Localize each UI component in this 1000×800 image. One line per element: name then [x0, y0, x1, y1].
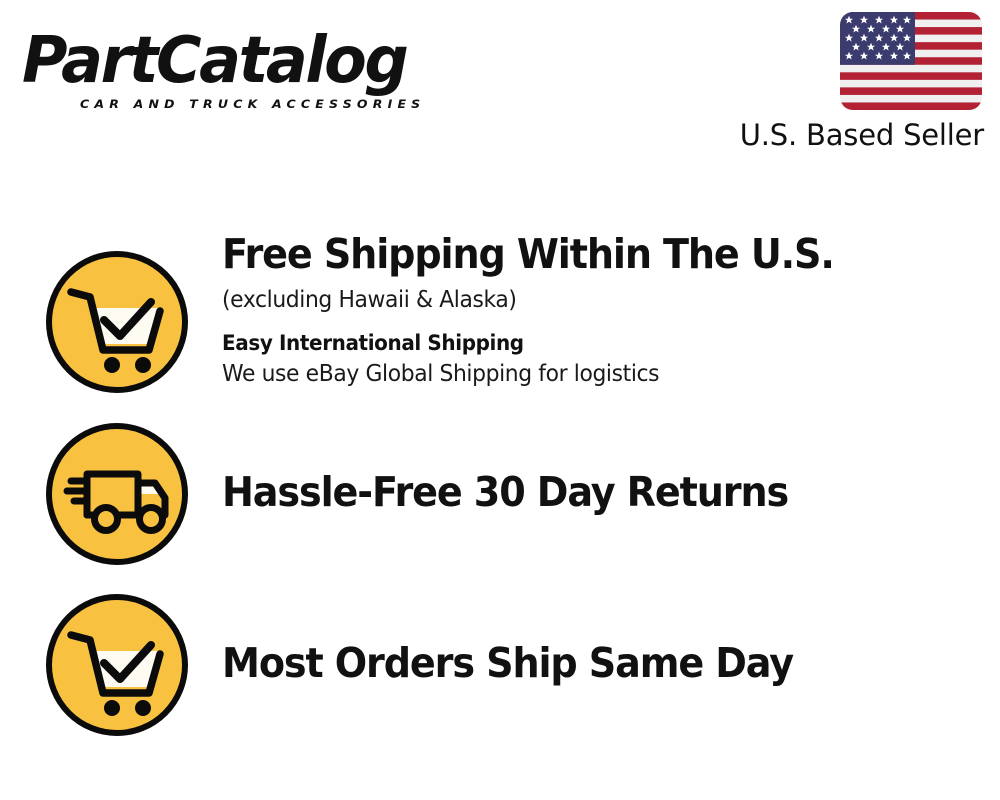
us-based-seller-label: U.S. Based Seller [740, 118, 984, 152]
feature-row-free-shipping: Free Shipping Within The U.S. (excluding… [0, 230, 1000, 410]
us-flag-icon [840, 12, 982, 110]
same-day-text-group: Most Orders Ship Same Day [222, 639, 962, 687]
shopping-cart-check-icon [43, 248, 191, 396]
brand-logo[interactable]: PartCatalog CAR AND TRUCK ACCESSORIES [22, 26, 492, 116]
feature-headline: Free Shipping Within The U.S. [222, 230, 910, 278]
shipping-info-banner: PartCatalog CAR AND TRUCK ACCESSORIES [0, 0, 1000, 800]
feature-sub-heading: Easy International Shipping [222, 328, 925, 358]
delivery-truck-icon [43, 420, 191, 568]
feature-row-same-day-shipping: Most Orders Ship Same Day [0, 591, 1000, 739]
logo-tagline: CAR AND TRUCK ACCESSORIES [80, 97, 425, 111]
feature-sub-detail: We use eBay Global Shipping for logistic… [222, 358, 925, 390]
feature-row-returns: Hassle-Free 30 Day Returns [0, 420, 1000, 568]
free-shipping-text-group: Free Shipping Within The U.S. (excluding… [222, 230, 962, 390]
feature-subline: (excluding Hawaii & Alaska) [222, 284, 925, 316]
feature-headline: Most Orders Ship Same Day [222, 639, 910, 687]
returns-text-group: Hassle-Free 30 Day Returns [222, 468, 962, 516]
feature-headline: Hassle-Free 30 Day Returns [222, 468, 910, 516]
shopping-cart-check-icon [43, 591, 191, 739]
logo-wordmark: PartCatalog [22, 26, 478, 96]
